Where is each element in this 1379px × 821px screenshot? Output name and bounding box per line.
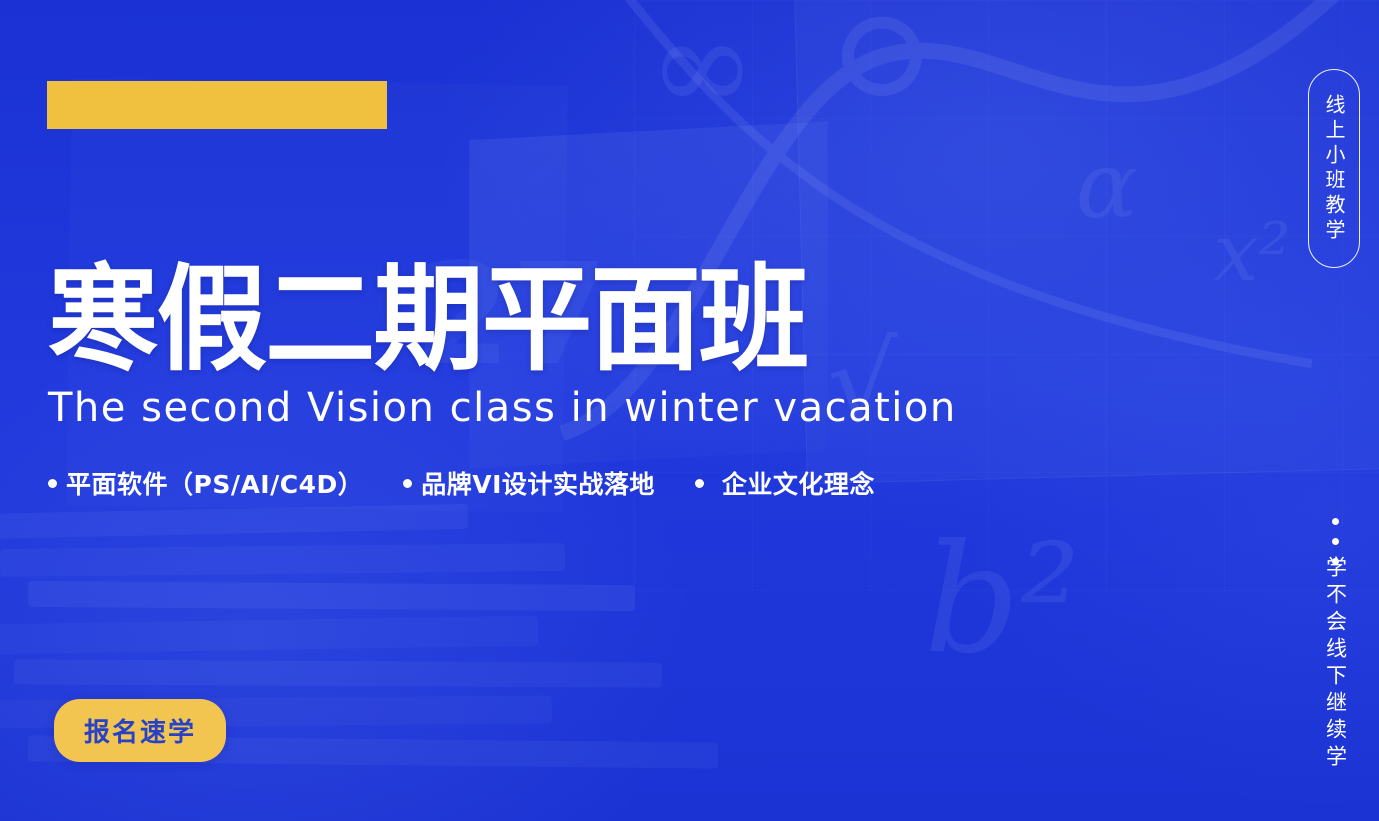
page-title: 寒假二期平面班 bbox=[48, 262, 920, 379]
page-subtitle: The second Vision class in winter vacati… bbox=[48, 385, 957, 431]
separator-dot-icon bbox=[1332, 518, 1339, 525]
guarantee-slogan: 学不会线下继续学 bbox=[1310, 556, 1360, 772]
guarantee-slogan-label: 学不会线下继续学 bbox=[1325, 556, 1346, 772]
feature-label: 品牌VI设计实战落地 bbox=[421, 465, 655, 501]
online-class-badge-label: 线上小班教学 bbox=[1324, 94, 1344, 244]
separator-dot-icon bbox=[1332, 538, 1339, 545]
online-class-badge: 线上小班教学 bbox=[1308, 69, 1360, 268]
enroll-button[interactable]: 报名速学 bbox=[54, 699, 226, 762]
feature-label: 企业文化理念 bbox=[722, 465, 875, 501]
feature-item-software: 平面软件（PS/AI/C4D） bbox=[48, 465, 363, 501]
banner-content: 寒假二期平面班 The second Vision class in winte… bbox=[0, 0, 1379, 821]
headline-block: 寒假二期平面班 The second Vision class in winte… bbox=[48, 262, 957, 431]
feature-label: 平面软件（PS/AI/C4D） bbox=[66, 465, 363, 501]
bullet-dot-icon bbox=[48, 479, 57, 488]
feature-list: 平面软件（PS/AI/C4D） 品牌VI设计实战落地 企业文化理念 bbox=[48, 465, 875, 501]
bullet-dot-icon bbox=[695, 479, 704, 488]
bullet-dot-icon bbox=[403, 479, 412, 488]
feature-item-culture: 企业文化理念 bbox=[695, 465, 875, 501]
accent-bar bbox=[47, 81, 387, 129]
feature-item-brand-vi: 品牌VI设计实战落地 bbox=[403, 465, 655, 501]
promo-banner: ∞ b² α x² 27 √ 寒假二期平面班 The second Vision… bbox=[0, 0, 1379, 821]
